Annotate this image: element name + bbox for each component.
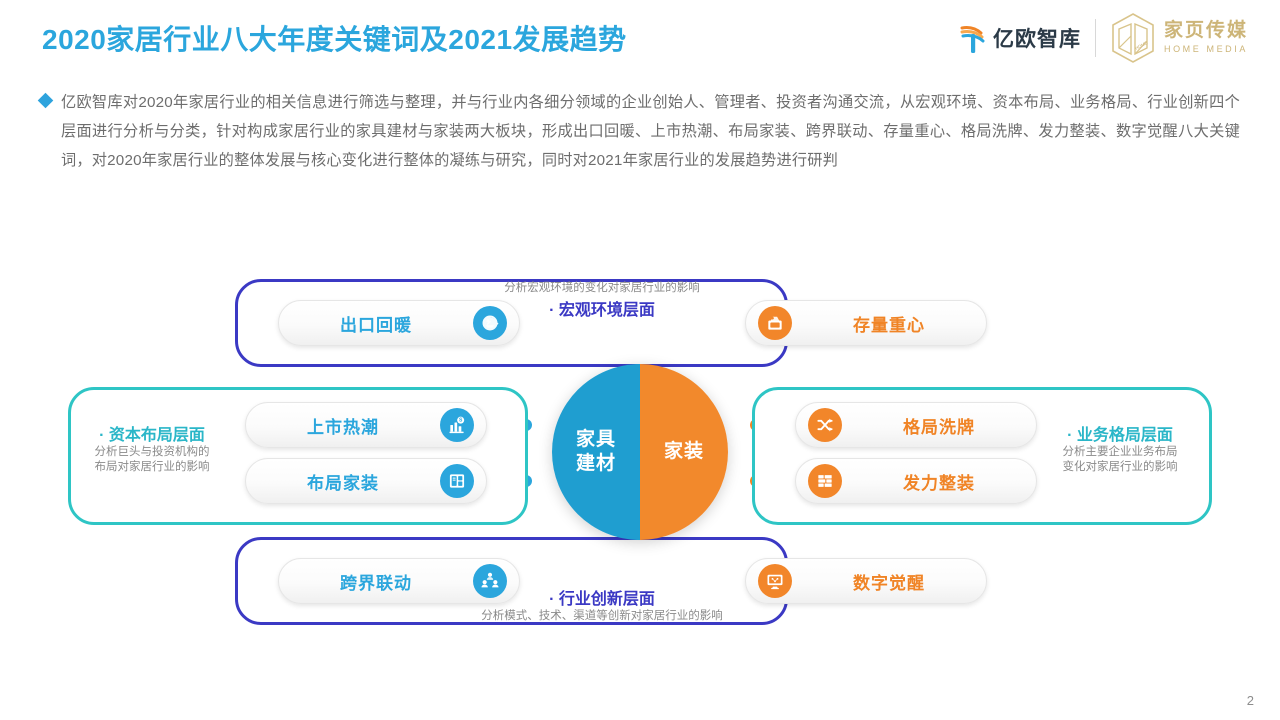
cross-industry-icon [473,564,507,598]
logo-divider [1095,19,1096,57]
yiou-mark-icon [959,21,989,55]
layer-caption-capital: · 资本布局层面 分析巨头与投资机构的 布局对家居行业的影响 [72,421,232,475]
digital-monitor-icon [758,564,792,598]
page-number: 2 [1247,693,1254,708]
keyword-label: 存量重心 [792,311,986,336]
home-media-en-text: HOME MEDIA [1164,45,1248,55]
keyword-label: 跨界联动 [279,569,473,594]
shuffle-icon [808,408,842,442]
diamond-bullet-icon [38,93,54,109]
keyword-pill-home-layout[interactable]: 布局家装 [245,458,487,504]
layer-desc-macro: 分析宏观环境的变化对家居行业的影响 [442,281,762,296]
keyword-pill-cross-industry[interactable]: 跨界联动 [278,558,520,604]
keyword-label: 布局家装 [246,469,440,494]
keyword-label: 格局洗牌 [842,413,1036,438]
keyword-pill-export-rebound[interactable]: 出口回暖 [278,300,520,346]
intro-text: 亿欧智库对2020年家居行业的相关信息进行筛选与整理，并与行业内各细分领域的企业… [61,88,1240,175]
layer-desc-business-line2: 变化对家居行业的影响 [1040,460,1200,475]
slide-root: 2020家居行业八大年度关键词及2021发展趋势 亿欧智库 [0,0,1280,720]
page-title: 2020家居行业八大年度关键词及2021发展趋势 [42,18,627,58]
keyword-pill-full-package[interactable]: 发力整装 [795,458,1037,504]
center-label-furniture-line1: 家具 [576,428,616,452]
center-label-furniture: 家具 建材 [576,428,616,476]
keyword-pill-stock-focus[interactable]: 存量重心 [745,300,987,346]
layer-desc-innovation: 分析模式、技术、渠道等创新对家居行业的影响 [442,609,762,624]
layer-name-capital: · 资本布局层面 [72,421,232,445]
home-layout-icon [440,464,474,498]
center-label-decoration: 家装 [664,440,704,464]
center-segmented-circle: 家具 建材 家装 [552,364,728,540]
keyword-label: 出口回暖 [279,311,473,336]
keyword-label: 发力整装 [842,469,1036,494]
ipo-chart-icon: S [440,408,474,442]
layer-caption-business: · 业务格局层面 分析主要企业业务布局 变化对家居行业的影响 [1040,421,1200,475]
layer-desc-capital-line1: 分析巨头与投资机构的 [72,445,232,460]
center-label-furniture-line2: 建材 [576,452,616,476]
brick-wall-icon [808,464,842,498]
keyword-label: 数字觉醒 [792,569,986,594]
yiou-logo-text: 亿欧智库 [993,23,1081,53]
logo-group: 亿欧智库 HOME 家页传媒 HOME MEDIA [959,8,1248,68]
keyword-pill-ipo-wave[interactable]: 上市热潮 S [245,402,487,448]
keyword-framework-diagram: 分析宏观环境的变化对家居行业的影响 · 宏观环境层面 · 行业创新层面 分析模式… [0,255,1280,655]
hexagon-mark-icon: HOME [1110,12,1156,64]
home-media-cn-text: 家页传媒 [1164,21,1248,42]
svg-text:HOME: HOME [1134,40,1148,51]
layer-desc-capital-line2: 布局对家居行业的影响 [72,460,232,475]
keyword-pill-reshuffle[interactable]: 格局洗牌 [795,402,1037,448]
export-rebound-icon [473,306,507,340]
intro-paragraph: 亿欧智库对2020年家居行业的相关信息进行筛选与整理，并与行业内各细分领域的企业… [40,88,1240,175]
keyword-label: 上市热潮 [246,413,440,438]
layer-name-business: · 业务格局层面 [1040,421,1200,445]
yiou-zhiku-logo: 亿欧智库 [959,21,1081,55]
keyword-pill-digital-awakening[interactable]: 数字觉醒 [745,558,987,604]
home-media-logo: HOME 家页传媒 HOME MEDIA [1110,12,1248,64]
stock-focus-icon [758,306,792,340]
layer-desc-business-line1: 分析主要企业业务布局 [1040,445,1200,460]
